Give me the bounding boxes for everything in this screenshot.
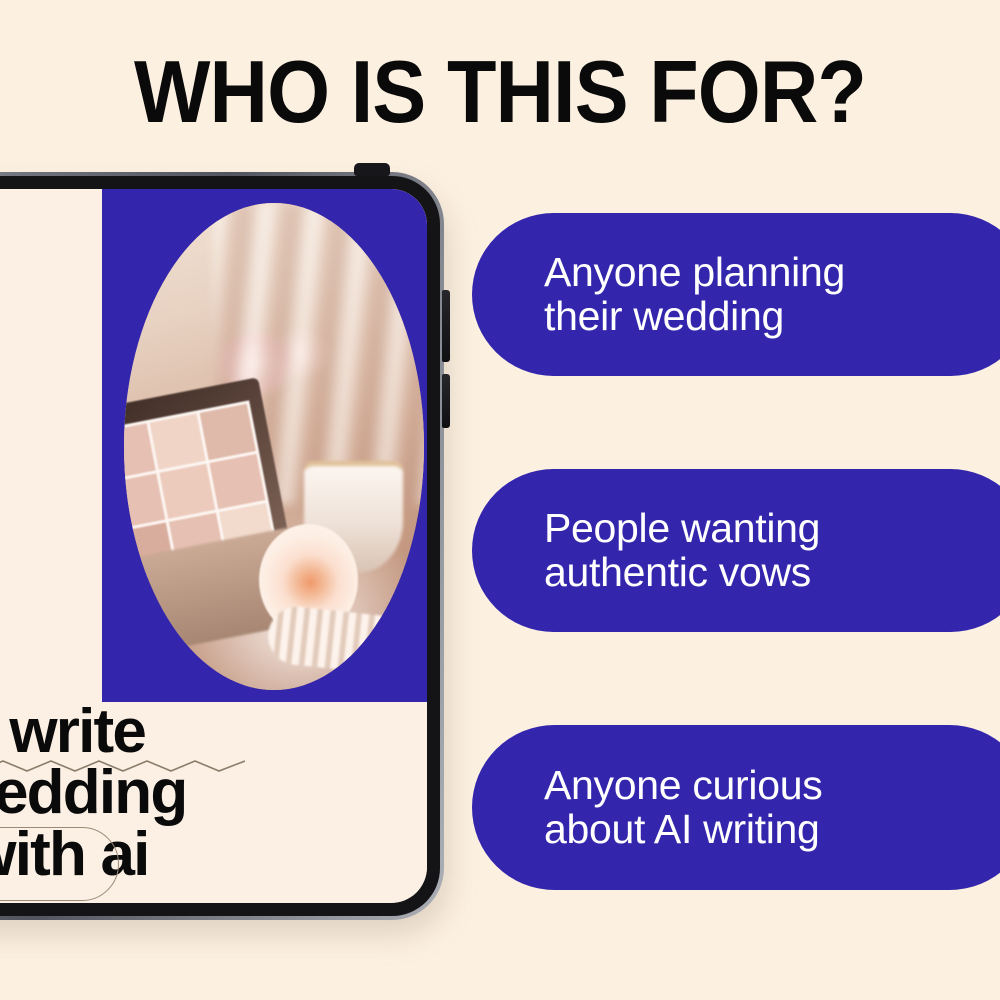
zigzag-underline-icon: [0, 759, 245, 773]
poster-photo-oval: [124, 203, 424, 690]
audience-pill-3-label: Anyone curious about AI writing: [544, 764, 822, 851]
camera-notch-icon: [354, 163, 390, 176]
audience-pill-2-label: People wanting authentic vows: [544, 507, 820, 594]
tablet-frame: ft Inside how to write your wedding vows…: [0, 172, 444, 920]
tablet-mockup: ft Inside how to write your wedding vows…: [0, 172, 444, 920]
volume-up-button[interactable]: [442, 290, 450, 362]
audience-pill-3[interactable]: Anyone curious about AI writing: [472, 725, 1000, 890]
poster-headline-line-1: how to write: [0, 701, 427, 762]
tablet-bezel: ft Inside how to write your wedding vows…: [0, 176, 440, 916]
audience-pill-2[interactable]: People wanting authentic vows: [472, 469, 1000, 632]
photo-pearls: [265, 604, 424, 678]
poster-headline: how to write your wedding vows with ai: [0, 701, 427, 885]
volume-down-button[interactable]: [442, 374, 450, 428]
vows-highlight-ring: [0, 827, 119, 901]
poster-graphic: ft Inside how to write your wedding vows…: [0, 189, 427, 903]
audience-pill-list: Anyone planning thеir wedding People wan…: [472, 0, 1000, 1000]
wedding-planning-photo: [124, 203, 424, 690]
audience-pill-1-label: Anyone planning thеir wedding: [544, 251, 845, 338]
audience-pill-1[interactable]: Anyone planning thеir wedding: [472, 213, 1000, 376]
tablet-screen[interactable]: ft Inside how to write your wedding vows…: [0, 189, 427, 903]
